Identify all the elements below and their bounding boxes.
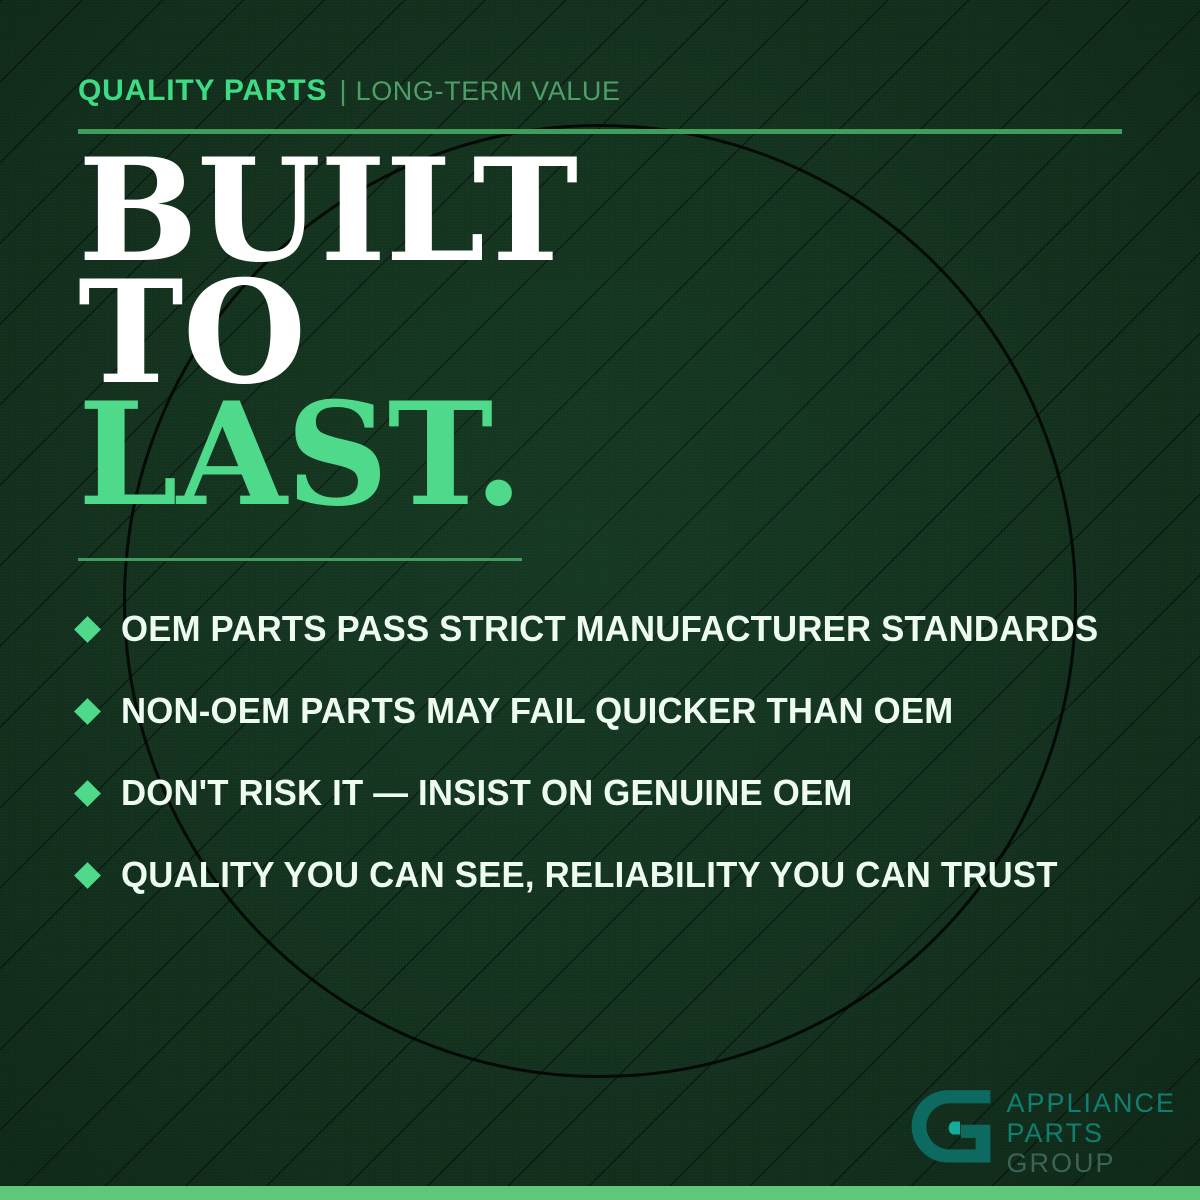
eyebrow-separator: |: [339, 75, 346, 107]
headline-divider-rule: [78, 558, 522, 561]
diamond-bullet-icon: [74, 698, 101, 725]
brand-logo: APPLIANCE PARTS GROUP: [910, 1085, 1176, 1178]
brand-logo-line-3: GROUP: [1006, 1148, 1176, 1178]
list-item-label: OEM PARTS PASS STRICT MANUFACTURER STAND…: [121, 608, 1098, 650]
list-item: NON-OEM PARTS MAY FAIL QUICKER THAN OEM: [78, 670, 1138, 752]
appliance-parts-group-g-mark-icon: [910, 1087, 992, 1169]
brand-logo-wordmark: APPLIANCE PARTS GROUP: [1006, 1085, 1176, 1178]
diamond-bullet-icon: [74, 616, 101, 643]
promo-poster: QUALITY PARTS | LONG-TERM VALUE BUILT TO…: [0, 0, 1200, 1200]
list-item: QUALITY YOU CAN SEE, RELIABILITY YOU CAN…: [78, 834, 1138, 916]
diamond-bullet-icon: [74, 862, 101, 889]
list-item: DON'T RISK IT — INSIST ON GENUINE OEM: [78, 752, 1138, 834]
list-item-label: DON'T RISK IT — INSIST ON GENUINE OEM: [121, 772, 852, 814]
list-item: OEM PARTS PASS STRICT MANUFACTURER STAND…: [78, 588, 1138, 670]
benefits-list: OEM PARTS PASS STRICT MANUFACTURER STAND…: [78, 588, 1138, 916]
diamond-bullet-icon: [74, 780, 101, 807]
brand-logo-line-1: APPLIANCE: [1006, 1088, 1176, 1118]
list-item-label: QUALITY YOU CAN SEE, RELIABILITY YOU CAN…: [121, 854, 1058, 896]
headline-line-3: LAST.: [78, 394, 577, 516]
page-title: BUILT TO LAST.: [78, 150, 577, 516]
brand-logo-line-2: PARTS: [1006, 1118, 1176, 1148]
eyebrow-secondary-label: LONG-TERM VALUE: [356, 76, 621, 107]
list-item-label: NON-OEM PARTS MAY FAIL QUICKER THAN OEM: [121, 690, 953, 732]
bottom-accent-bar: [0, 1186, 1200, 1200]
eyebrow-primary-label: QUALITY PARTS: [78, 74, 327, 108]
eyebrow-header: QUALITY PARTS | LONG-TERM VALUE: [78, 74, 621, 108]
